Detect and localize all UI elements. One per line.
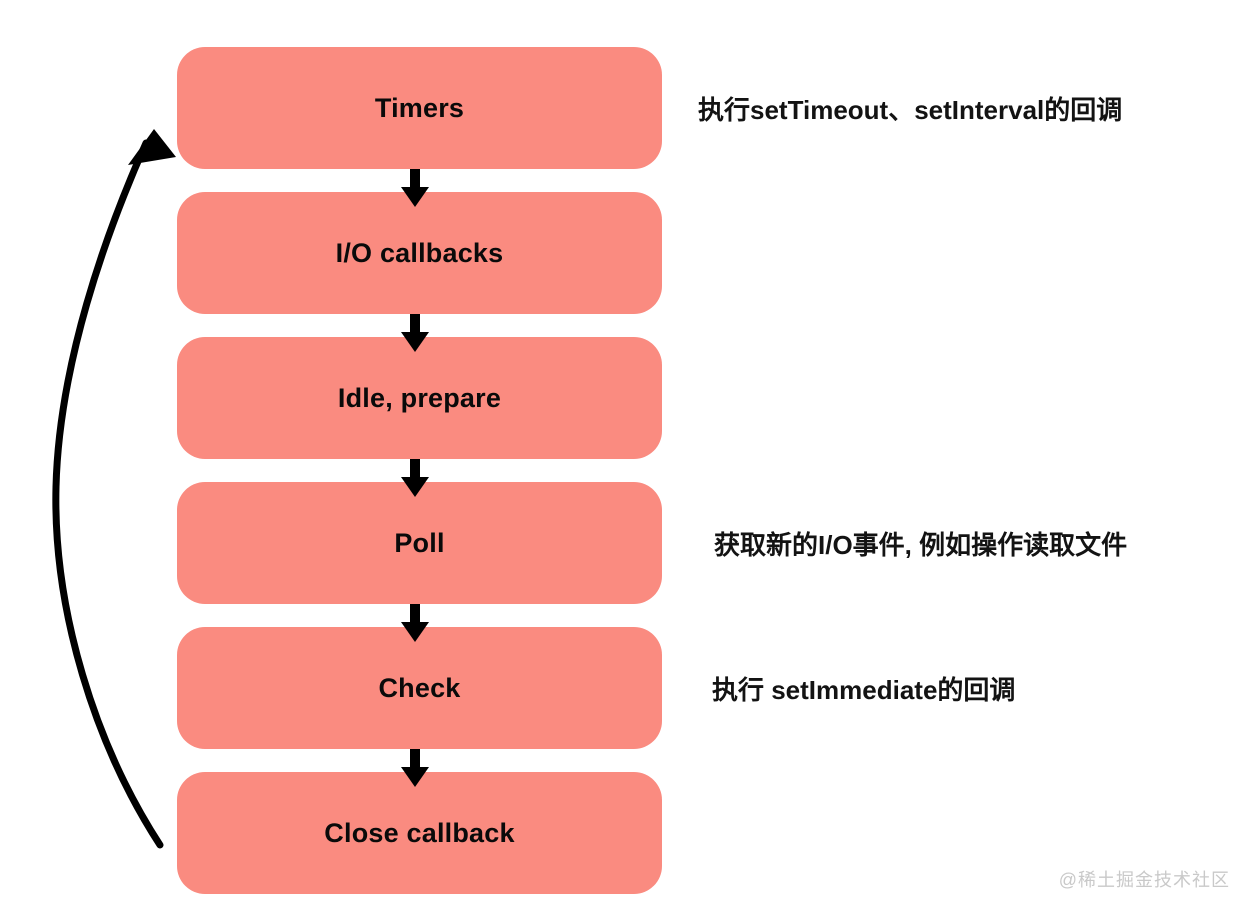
diagram-canvas: Timers I/O callbacks Idle, prepare Poll … (0, 0, 1252, 914)
phase-box-poll[interactable]: Poll (177, 482, 662, 604)
phase-label: Idle, prepare (338, 385, 501, 412)
down-arrow-icon (399, 314, 431, 352)
phase-box-io-callbacks[interactable]: I/O callbacks (177, 192, 662, 314)
down-arrow-icon (399, 604, 431, 642)
phase-label: I/O callbacks (336, 240, 504, 267)
phase-label: Timers (375, 95, 464, 122)
phase-box-idle-prepare[interactable]: Idle, prepare (177, 337, 662, 459)
down-arrow-icon (399, 749, 431, 787)
phase-label: Check (378, 675, 460, 702)
watermark: @稀土掘金技术社区 (1059, 866, 1230, 892)
annotation-check: 执行 setImmediate的回调 (712, 675, 1015, 706)
phase-box-close-callback[interactable]: Close callback (177, 772, 662, 894)
annotation-poll: 获取新的I/O事件, 例如操作读取文件 (714, 530, 1127, 561)
down-arrow-icon (399, 459, 431, 497)
phase-label: Close callback (324, 820, 514, 847)
phase-box-check[interactable]: Check (177, 627, 662, 749)
phase-label: Poll (394, 530, 444, 557)
phase-box-timers[interactable]: Timers (177, 47, 662, 169)
annotation-timers: 执行setTimeout、setInterval的回调 (698, 95, 1122, 126)
down-arrow-icon (399, 169, 431, 207)
